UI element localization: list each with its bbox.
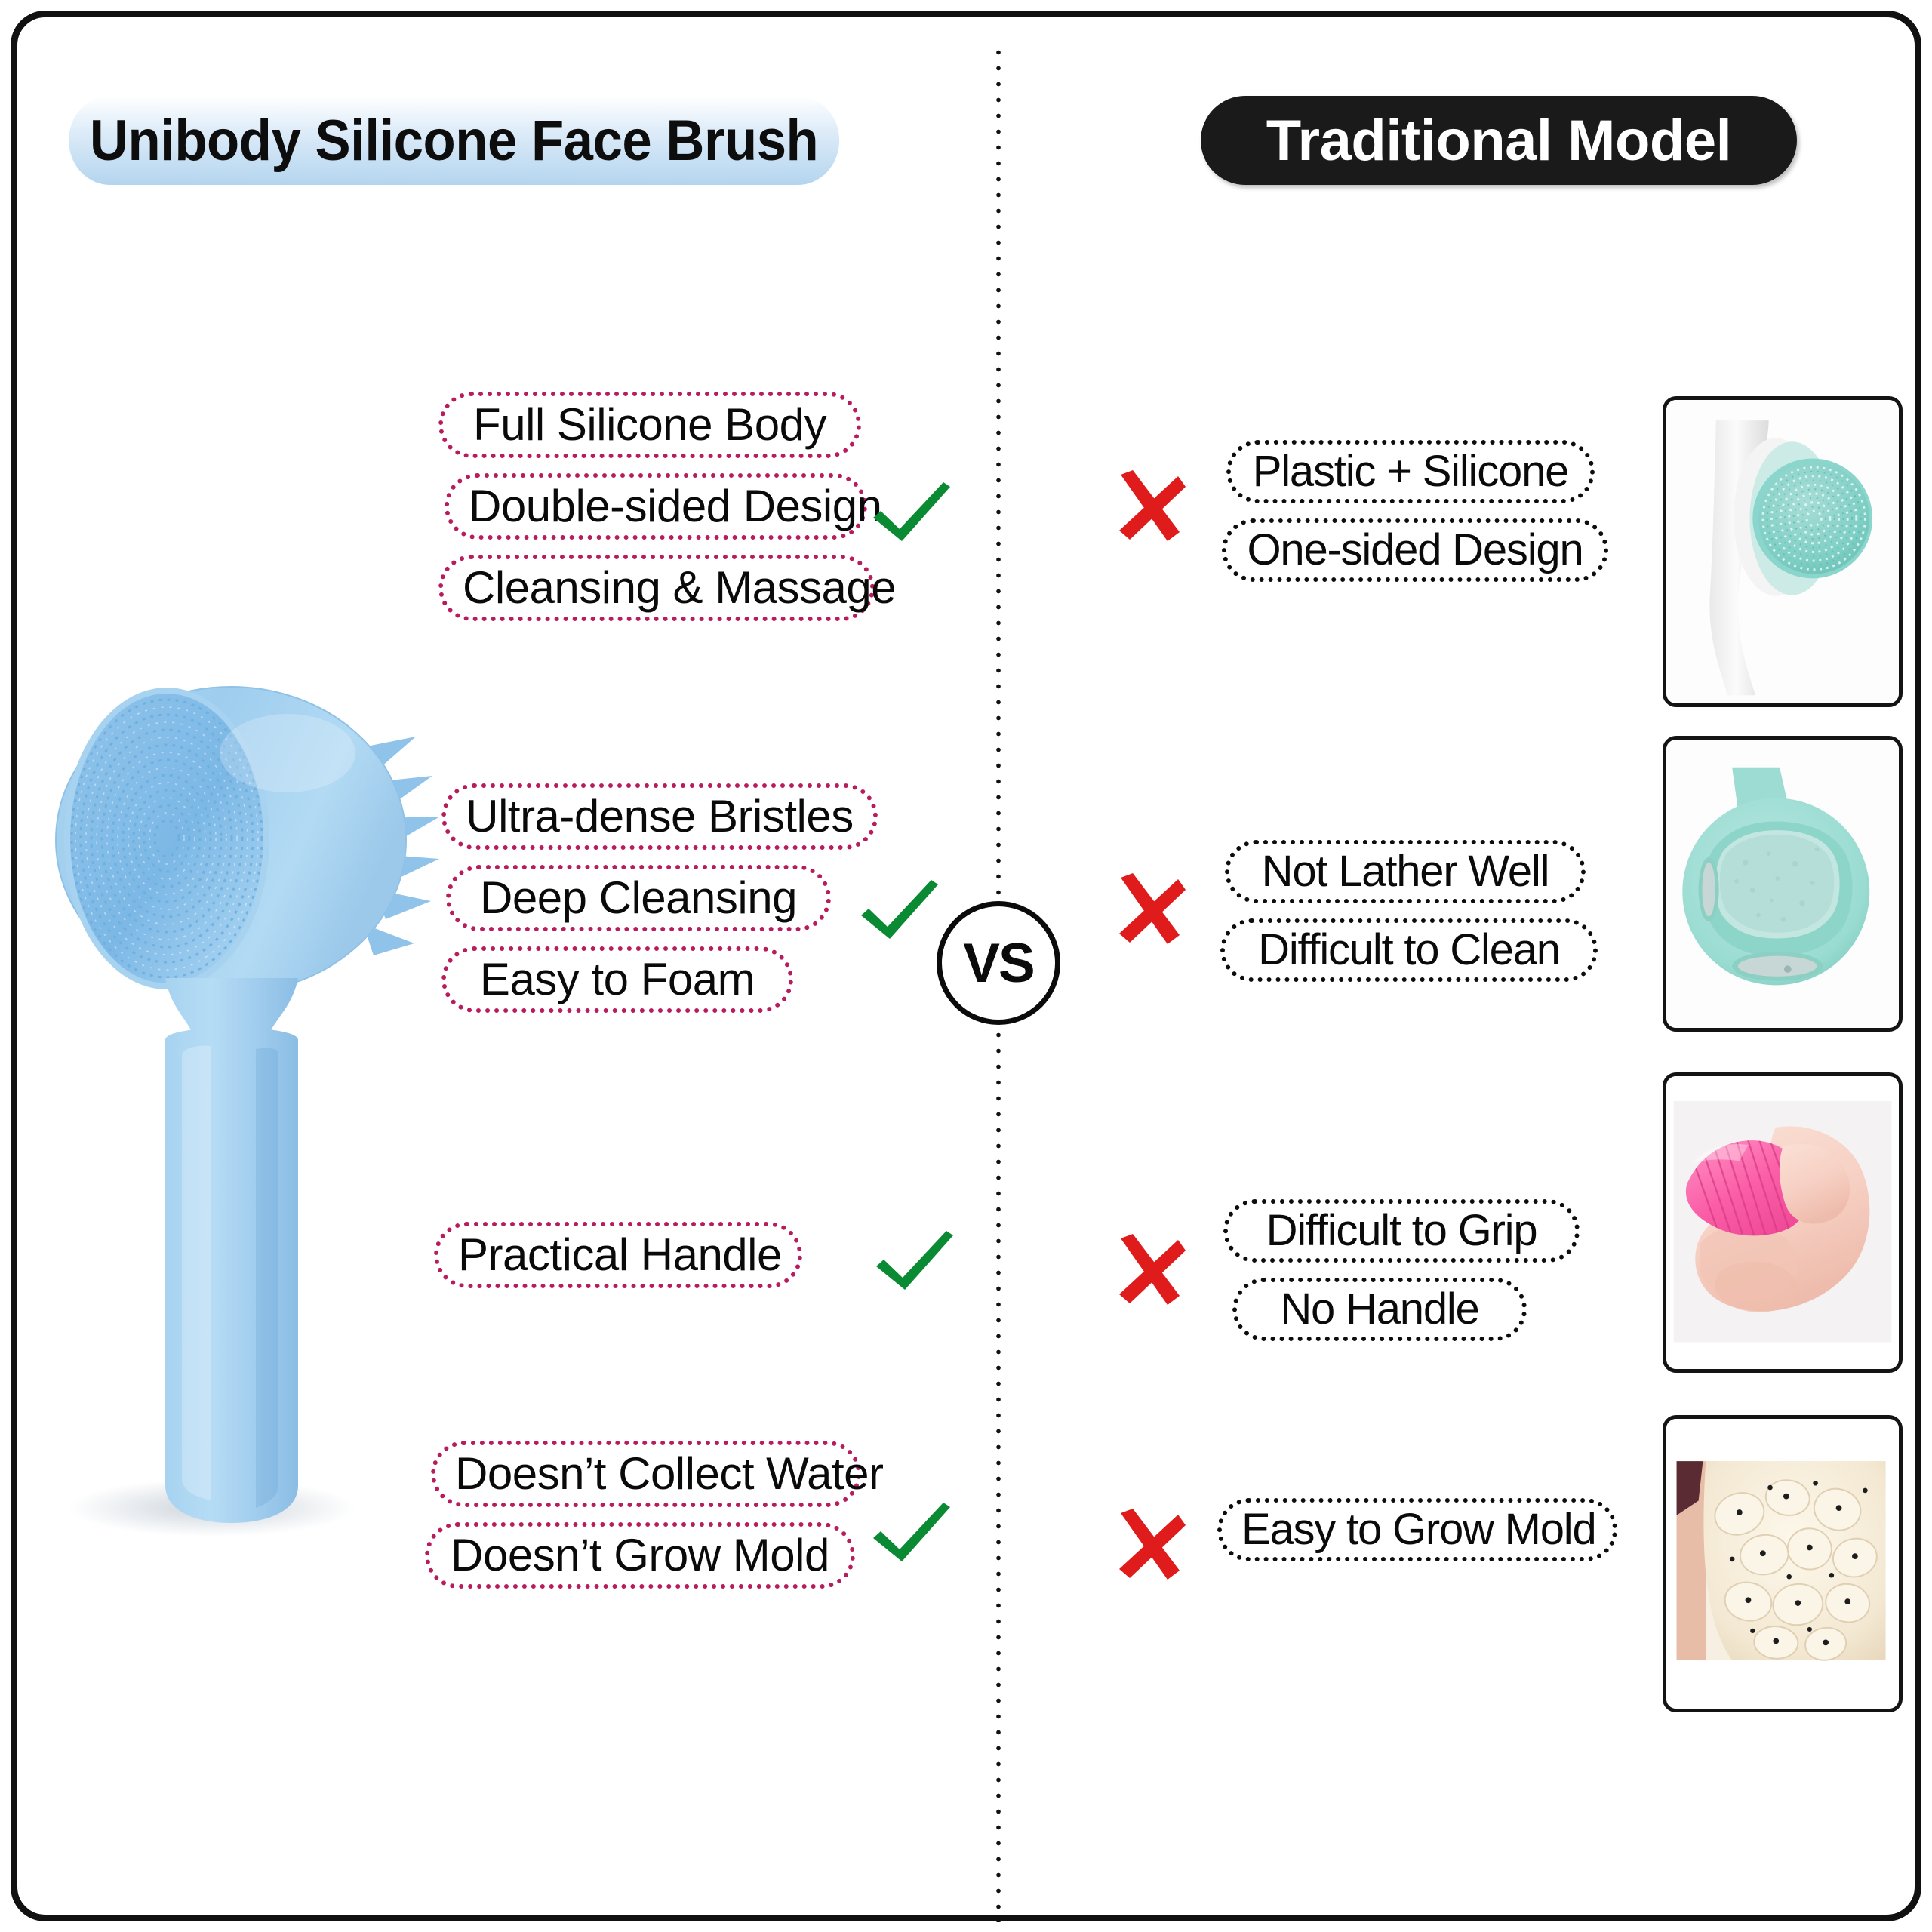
outer-frame: Unibody Silicone Face Brush Traditional …: [11, 11, 1921, 1921]
left-feature-pill: Ultra-dense Bristles: [441, 783, 878, 850]
right-feature-pill: Difficult to Clean: [1220, 918, 1598, 982]
red-cross-icon: [1110, 467, 1189, 549]
left-feature-pill: Doesn’t Collect Water: [431, 1441, 861, 1507]
traditional-brush-white-handle-teal-head-image: [1666, 400, 1899, 701]
right-feature-label: Difficult to Clean: [1244, 928, 1574, 972]
left-feature-label: Ultra-dense Bristles: [466, 794, 854, 839]
left-feature-label: Cleansing & Massage: [463, 565, 851, 611]
right-feature-pill: Difficult to Grip: [1223, 1199, 1580, 1263]
left-feature-label: Easy to Foam: [466, 957, 769, 1002]
hand-holding-pink-silicone-pad-image: [1666, 1076, 1899, 1367]
infographic-page: Unibody Silicone Face Brush Traditional …: [0, 0, 1932, 1932]
product-image-blue-silicone-face-brush: [38, 663, 461, 1546]
right-feature-label: Plastic + Silicone: [1251, 450, 1571, 494]
left-feature-pill: Deep Cleansing: [446, 865, 831, 931]
left-feature-label: Deep Cleansing: [470, 875, 807, 921]
right-feature-pill: Not Lather Well: [1225, 840, 1586, 903]
left-feature-pill: Double-sided Design: [445, 473, 867, 540]
blue-brush-illustration: [38, 663, 461, 1546]
header-badge-right: Traditional Model: [1201, 96, 1797, 185]
left-feature-label: Doesn’t Grow Mold: [449, 1533, 831, 1578]
right-feature-pill: Plastic + Silicone: [1226, 440, 1595, 503]
traditional-product-thumbnail: [1663, 736, 1903, 1032]
right-feature-pill: One-sided Design: [1222, 518, 1608, 582]
header-badge-left-label: Unibody Silicone Face Brush: [90, 108, 818, 174]
left-feature-pill: Practical Handle: [434, 1222, 802, 1288]
moldy-cream-brush-closeup-image: [1666, 1419, 1899, 1707]
vs-badge: VS: [937, 901, 1060, 1025]
left-feature-label: Full Silicone Body: [463, 402, 837, 448]
traditional-product-thumbnail: [1663, 396, 1903, 707]
green-check-icon: [869, 1225, 959, 1297]
green-check-icon: [854, 874, 944, 946]
right-feature-pill: Easy to Grow Mold: [1217, 1498, 1617, 1561]
red-cross-icon: [1110, 870, 1189, 952]
header-badge-left: Unibody Silicone Face Brush: [69, 96, 839, 185]
red-cross-icon: [1110, 1506, 1189, 1587]
vs-label: VS: [963, 932, 1033, 995]
left-feature-label: Practical Handle: [458, 1232, 778, 1278]
right-feature-label: One-sided Design: [1246, 528, 1584, 572]
left-feature-pill: Doesn’t Grow Mold: [425, 1522, 855, 1589]
teal-cleansing-pad-with-sponge-image: [1666, 740, 1899, 1026]
traditional-product-thumbnail: [1663, 1072, 1903, 1373]
left-feature-label: Doesn’t Collect Water: [455, 1451, 837, 1497]
green-check-icon: [866, 1497, 956, 1569]
left-feature-pill: Cleansing & Massage: [438, 555, 875, 621]
right-feature-label: Easy to Grow Mold: [1241, 1508, 1593, 1552]
left-feature-pill: Full Silicone Body: [438, 392, 861, 458]
right-feature-label: Not Lather Well: [1249, 850, 1561, 894]
header-badge-right-label: Traditional Model: [1266, 108, 1731, 174]
left-feature-label: Double-sided Design: [469, 484, 843, 529]
green-check-icon: [866, 476, 956, 549]
left-feature-pill: Easy to Foam: [441, 946, 793, 1013]
right-feature-label: Difficult to Grip: [1247, 1209, 1555, 1253]
traditional-product-thumbnail: [1663, 1415, 1903, 1712]
right-feature-label: No Handle: [1257, 1287, 1503, 1331]
right-feature-pill: No Handle: [1232, 1278, 1527, 1341]
red-cross-icon: [1110, 1231, 1189, 1312]
